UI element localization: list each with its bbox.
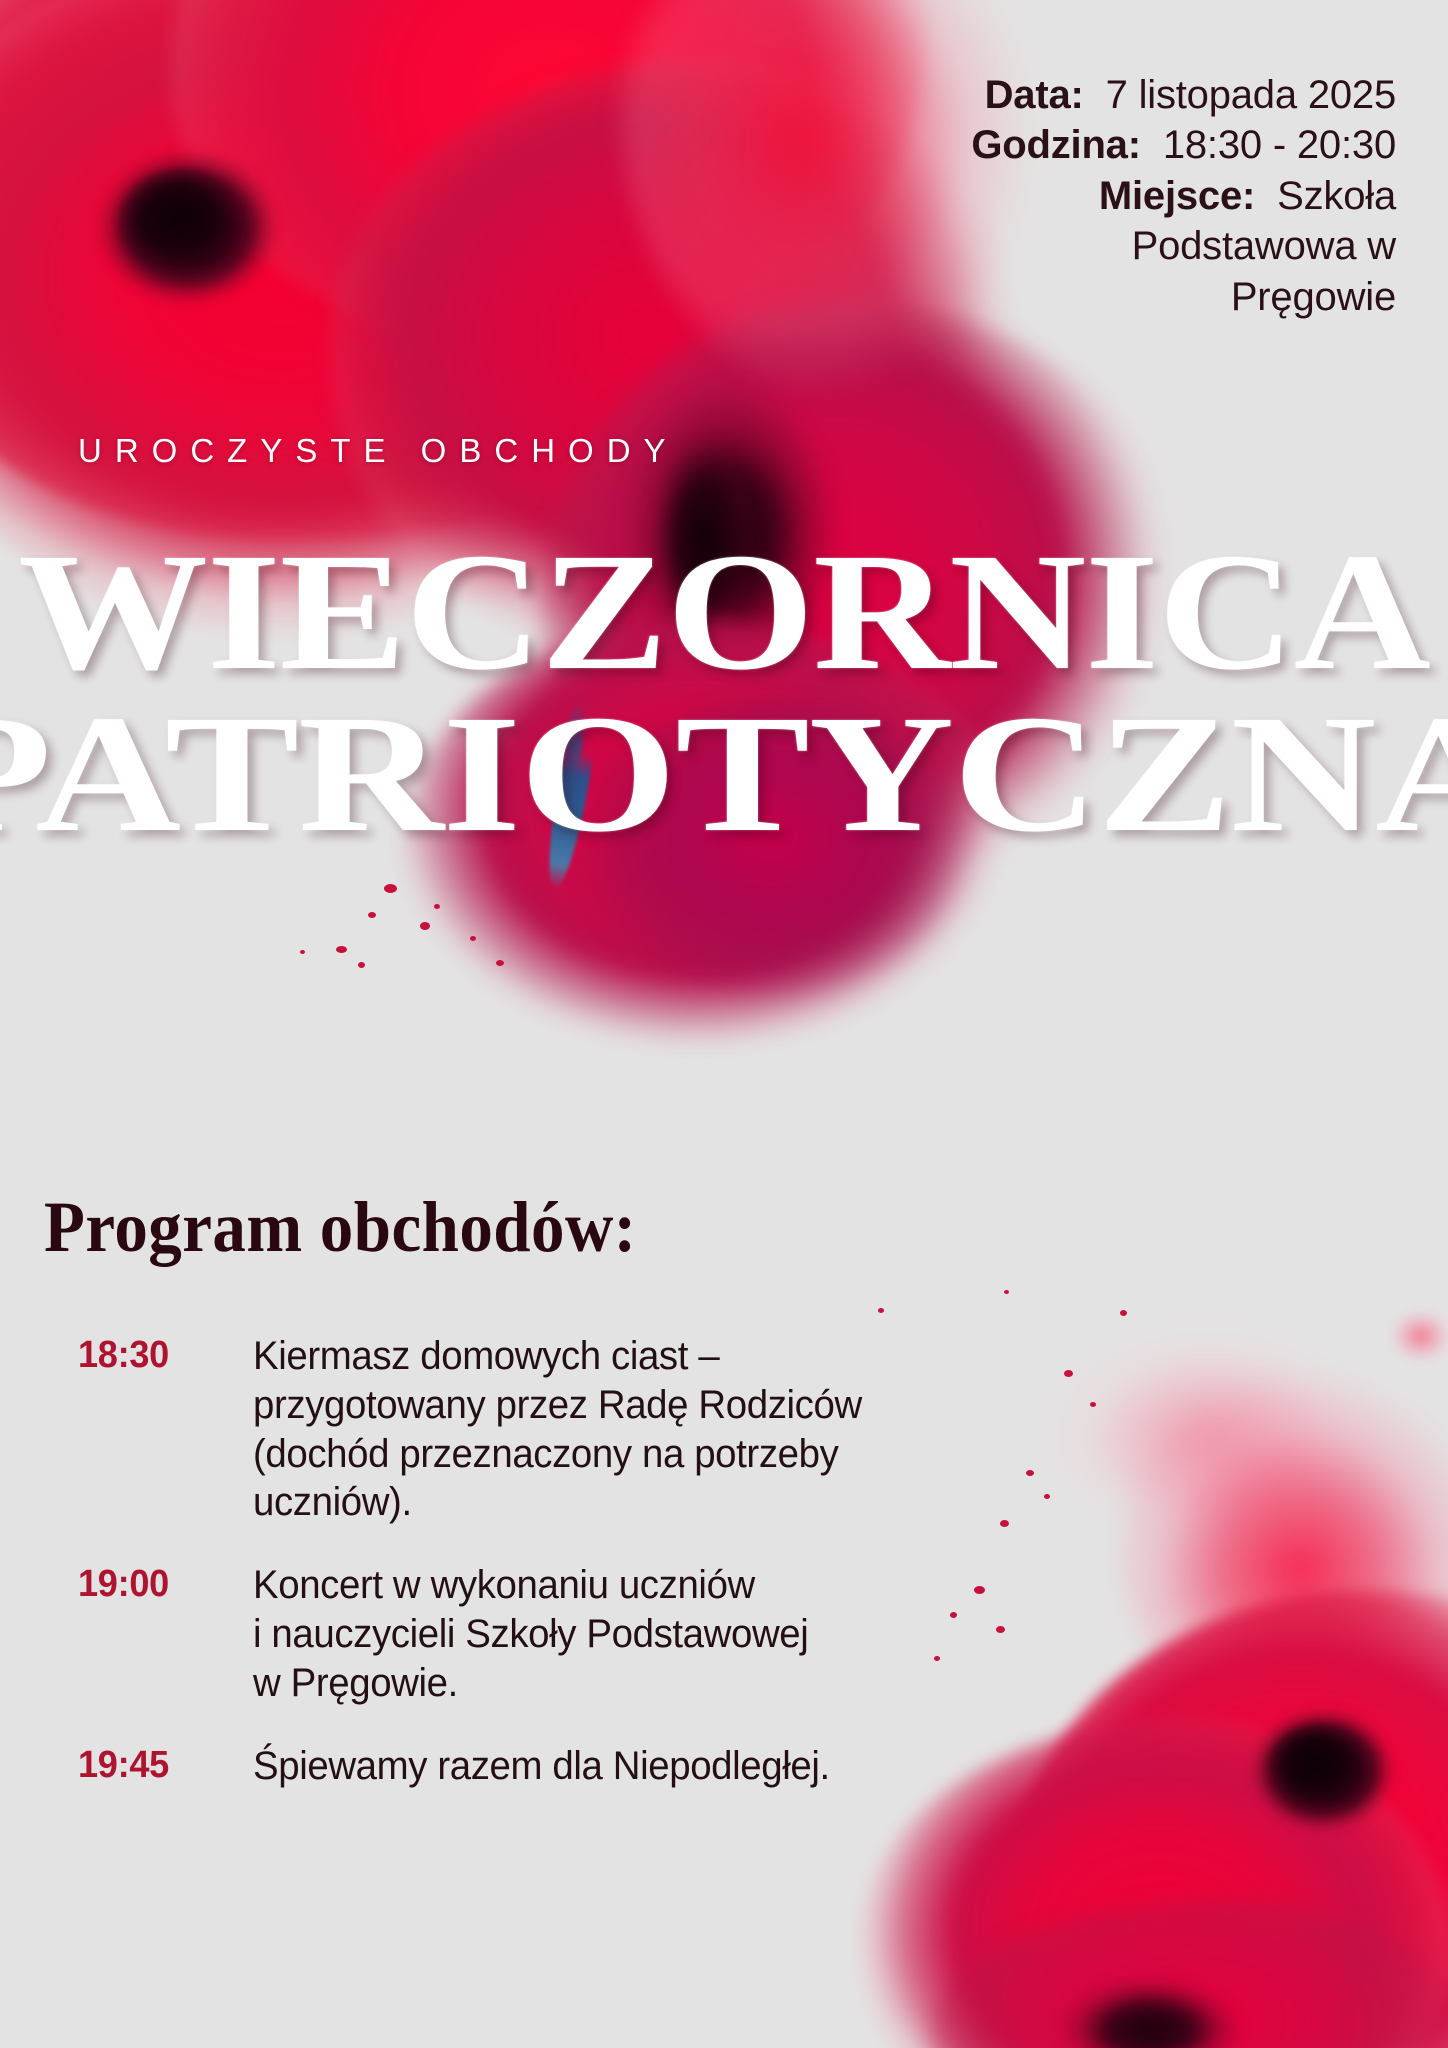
place-value-line3: Pręgowie xyxy=(756,272,1396,322)
schedule-row: 19:00 Koncert w wykonaniu uczniów i nauc… xyxy=(78,1561,1018,1707)
schedule-description: Koncert w wykonaniu uczniów i nauczyciel… xyxy=(253,1561,987,1707)
place-label: Miejsce: xyxy=(1099,171,1255,221)
poster-title: WIECZORNICA PATRIOTYCZNA xyxy=(0,540,1448,847)
time-label: Godzina: xyxy=(971,120,1141,170)
poster-content: Data: 7 listopada 2025 Godzina: 18:30 - … xyxy=(0,0,1448,2048)
place-value-line2: Podstawowa w xyxy=(756,221,1396,271)
event-detail-place: Miejsce: Szkoła xyxy=(756,171,1396,221)
schedule-time: 18:30 xyxy=(78,1332,244,1377)
date-value: 7 listopada 2025 xyxy=(1106,70,1396,120)
place-value: Szkoła xyxy=(1277,171,1396,221)
event-detail-time: Godzina: 18:30 - 20:30 xyxy=(756,120,1396,170)
schedule-time: 19:45 xyxy=(78,1742,244,1787)
event-details-block: Data: 7 listopada 2025 Godzina: 18:30 - … xyxy=(756,70,1396,322)
schedule-description: Śpiewamy razem dla Niepodległej. xyxy=(253,1742,987,1791)
eyebrow-text: UROCZYSTE OBCHODY xyxy=(78,432,679,470)
event-detail-date: Data: 7 listopada 2025 xyxy=(756,70,1396,120)
program-schedule-list: 18:30 Kiermasz domowych ciast – przygoto… xyxy=(78,1332,1018,1824)
schedule-time: 19:00 xyxy=(78,1561,244,1606)
program-heading: Program obchodów: xyxy=(44,1186,637,1269)
time-value: 18:30 - 20:30 xyxy=(1163,120,1396,170)
schedule-description: Kiermasz domowych ciast – przygotowany p… xyxy=(253,1332,987,1527)
schedule-row: 18:30 Kiermasz domowych ciast – przygoto… xyxy=(78,1332,1018,1527)
schedule-row: 19:45 Śpiewamy razem dla Niepodległej. xyxy=(78,1742,1018,1791)
poster-canvas: Data: 7 listopada 2025 Godzina: 18:30 - … xyxy=(0,0,1448,2048)
title-line-1: WIECZORNICA xyxy=(0,540,1448,684)
title-line-2: PATRIOTYCZNA xyxy=(0,702,1448,846)
date-label: Data: xyxy=(985,70,1084,120)
